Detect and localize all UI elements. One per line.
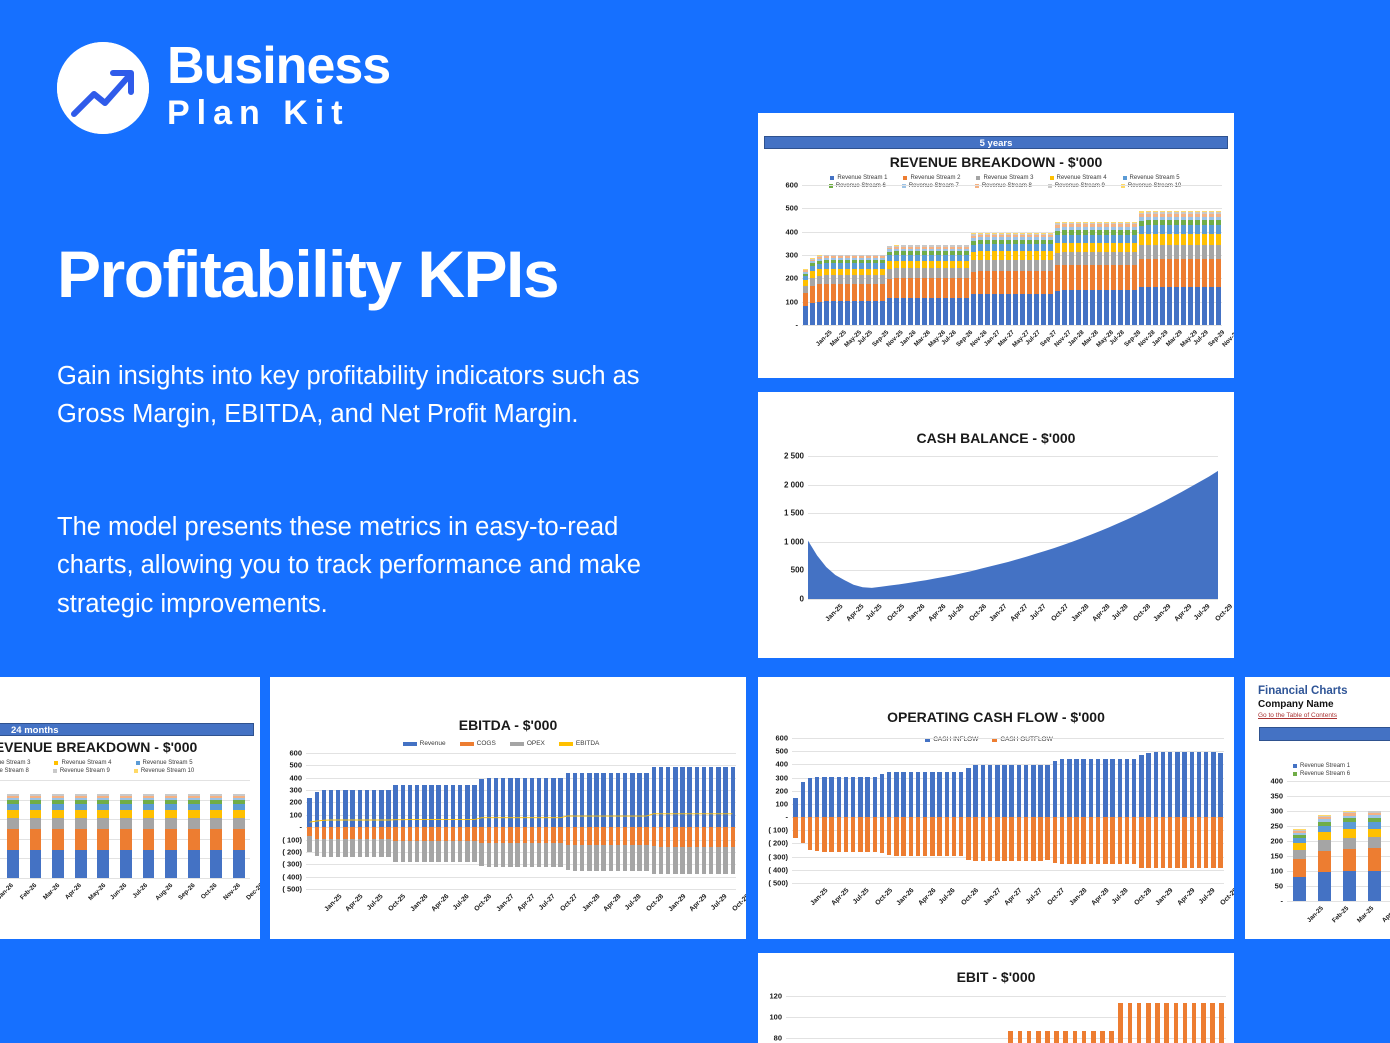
bar — [1210, 1003, 1215, 1043]
bar-segment — [1202, 225, 1206, 234]
bar-column — [850, 738, 857, 883]
bar-segment — [1111, 265, 1115, 290]
plot-area-ebitda: 600500400300200100-( 100)( 200)( 300)( 4… — [306, 753, 736, 889]
bar-negative — [1168, 817, 1172, 868]
bar-column — [900, 738, 907, 883]
bar-positive — [1204, 752, 1208, 817]
legend-item: Revenue Stream 1 — [1293, 763, 1350, 769]
bar-segment — [30, 818, 42, 829]
bar-segment — [7, 810, 19, 818]
card-revenue-breakdown-24m: 24 months REVENUE BREAKDOWN - $'000 Reve… — [0, 677, 260, 939]
bar-negative — [1190, 817, 1194, 868]
bar-column — [972, 738, 979, 883]
bar-segment — [1006, 294, 1010, 325]
bar-negative — [815, 817, 819, 851]
bar-negative — [923, 817, 927, 855]
legend-label: Revenue Stream 1 — [1300, 763, 1350, 769]
bar-negative — [1002, 817, 1006, 861]
bar-positive — [1190, 752, 1194, 817]
x-axis-label: Apr-29 — [689, 893, 709, 913]
bar-segment — [859, 275, 863, 284]
bar-negative — [1218, 817, 1222, 868]
bar-segment — [1209, 225, 1213, 234]
bar-segment — [1083, 243, 1087, 253]
x-axis-label: Apr-28 — [603, 893, 623, 913]
bar-negative — [937, 817, 941, 855]
bar-segment — [1076, 252, 1080, 265]
bar-segment — [210, 829, 222, 850]
bar-segment — [1146, 287, 1150, 325]
bar-segment — [1209, 259, 1213, 287]
bar-segment — [887, 269, 891, 279]
bar-segment — [188, 829, 200, 850]
bar-column — [1145, 185, 1152, 325]
bar-column — [786, 986, 795, 1043]
gridline — [808, 599, 1218, 600]
bar-segment — [936, 298, 940, 325]
bar-column — [1145, 738, 1152, 883]
bar-column — [907, 185, 914, 325]
bar-column — [1138, 738, 1145, 883]
bar-segment — [999, 294, 1003, 325]
bar-column — [865, 185, 872, 325]
bar-segment — [97, 850, 109, 878]
bar-segment — [1097, 252, 1101, 265]
y-axis-label: - — [758, 813, 788, 822]
bar-column — [998, 185, 1005, 325]
bar-column — [1159, 738, 1166, 883]
y-axis-label: ( 300) — [270, 860, 302, 869]
x-axis-label: Apr-25 — [831, 887, 851, 907]
x-axis-label: Jan-26 — [409, 893, 429, 913]
bar-segment — [964, 278, 968, 298]
chart-title-revenue-breakdown-24m: REVENUE BREAKDOWN - $'000 — [0, 739, 260, 755]
legend-label: COGS — [477, 740, 496, 747]
bar-segment — [859, 301, 863, 325]
brand-name-secondary: Plan Kit — [167, 92, 390, 135]
bar-positive — [1182, 752, 1186, 817]
bar-negative — [851, 817, 855, 852]
bar-positive — [959, 772, 963, 817]
bar-segment — [120, 818, 132, 829]
y-axis-label: ( 300) — [758, 852, 788, 861]
x-axis-label: Jul-25 — [366, 893, 385, 912]
bar-column — [1052, 986, 1061, 1043]
bar-segment — [971, 252, 975, 261]
bar-segment — [922, 261, 926, 269]
bar-column — [830, 185, 837, 325]
bar-column — [1068, 185, 1075, 325]
bar-positive — [1118, 759, 1122, 817]
hero-paragraph-1: Gain insights into key profitability ind… — [57, 357, 677, 434]
bar-column — [878, 986, 887, 1043]
bar-segment — [936, 278, 940, 298]
y-axis-label: ( 400) — [270, 872, 302, 881]
bar-segment — [964, 261, 968, 269]
bar-positive — [1146, 753, 1150, 818]
bar-segment — [1020, 271, 1024, 294]
y-axis-label: 100 — [1245, 867, 1283, 876]
bar-positive — [851, 777, 855, 817]
bar-segment — [971, 260, 975, 271]
bar-segment — [978, 260, 982, 272]
x-axis-label: Jan-26 — [895, 887, 915, 907]
bar-segment — [97, 810, 109, 818]
bar-column — [893, 185, 900, 325]
bar-segment — [1062, 243, 1066, 253]
bar-negative — [793, 817, 797, 838]
bar-segment — [817, 302, 821, 325]
x-axis-label: Jan-27 — [495, 893, 515, 913]
bar-segment — [1167, 225, 1171, 234]
brand-logo: Business Plan Kit — [57, 41, 390, 134]
legend-label: Revenue Stream 5 — [1130, 175, 1180, 181]
bar-segment — [992, 244, 996, 251]
bar-segment — [165, 829, 177, 850]
growth-chart-arrow-icon — [57, 42, 149, 134]
bar-column — [1203, 738, 1210, 883]
bar-positive — [916, 772, 920, 817]
bar-segment — [1160, 245, 1164, 259]
y-axis-label: - — [270, 823, 302, 832]
bar-segment — [852, 269, 856, 276]
bar-column — [1190, 986, 1199, 1043]
bar-segment — [1160, 259, 1164, 287]
bar-column — [160, 780, 183, 878]
card-operating-cash-flow: OPERATING CASH FLOW - $'000 CASH INFLOWC… — [758, 677, 1234, 939]
bar-negative — [894, 817, 898, 855]
bar-column — [1138, 185, 1145, 325]
bar-column — [887, 986, 896, 1043]
bar — [1146, 1003, 1151, 1043]
bar-segment — [845, 275, 849, 284]
bar-positive — [1161, 752, 1165, 817]
panel-tab-bar[interactable] — [1259, 727, 1390, 741]
legend-label: Revenue Stream 9 — [60, 768, 110, 774]
bar-column — [182, 780, 205, 878]
legend-label: Revenue Stream 4 — [1057, 175, 1107, 181]
bar-column — [1033, 185, 1040, 325]
bar-segment — [1076, 243, 1080, 253]
bar-negative — [1197, 817, 1201, 868]
bar-column — [1102, 738, 1109, 883]
bar-column — [851, 185, 858, 325]
bar-segment — [188, 810, 200, 818]
bar-series — [0, 780, 250, 878]
bar-segment — [985, 294, 989, 325]
bar-segment — [1318, 840, 1332, 851]
bar-segment — [1146, 234, 1150, 245]
bar-positive — [1031, 765, 1035, 817]
bar — [1054, 1031, 1059, 1043]
bar-segment — [1041, 244, 1045, 251]
bar-segment — [97, 829, 109, 850]
y-axis-label: - — [1245, 897, 1283, 906]
bar-segment — [1069, 243, 1073, 253]
bar-column — [1075, 185, 1082, 325]
bar-negative — [1024, 817, 1028, 861]
x-axis-label: Oct-28 — [645, 893, 665, 913]
bar-negative — [952, 817, 956, 855]
x-axis-label: Jul-29 — [710, 893, 729, 912]
bar-positive — [930, 772, 934, 817]
y-axis-label: 2 500 — [764, 452, 804, 461]
plot-area-ebit: 12010080 — [786, 986, 1226, 1043]
bar-segment — [950, 261, 954, 269]
x-axis-label: Jan-28 — [1071, 603, 1091, 623]
legend-label: Revenue Stream 8 — [0, 768, 29, 774]
bar-column — [979, 738, 986, 883]
bar-positive — [1154, 752, 1158, 817]
legend-item: Revenue Stream 2 — [903, 175, 960, 181]
card-cash-balance: CASH BALANCE - $'000 2 5002 0001 5001 00… — [758, 392, 1234, 658]
bar-column — [92, 780, 115, 878]
bar-segment — [915, 278, 919, 298]
bar-column — [950, 738, 957, 883]
bar-segment — [1343, 871, 1357, 901]
bar-segment — [824, 269, 828, 276]
bar-segment — [1216, 225, 1220, 234]
bar-column — [1167, 738, 1174, 883]
bar-segment — [1111, 235, 1115, 243]
bar-segment — [943, 268, 947, 278]
bar-column — [1124, 185, 1131, 325]
bar-segment — [873, 301, 877, 325]
bar-segment — [894, 268, 898, 278]
bar — [1008, 1031, 1013, 1043]
x-axis-label: Apr-25 — [845, 603, 865, 623]
bar-segment — [75, 829, 87, 850]
bar-segment — [1118, 235, 1122, 243]
bar-segment — [1062, 235, 1066, 243]
table-of-contents-link[interactable]: Go to the Table of Contents — [1258, 712, 1337, 719]
legend-item: EBITDA — [559, 740, 599, 747]
legend-item: Revenue Stream 4 — [1050, 175, 1107, 181]
y-axis-label: ( 100) — [758, 826, 788, 835]
bar-column — [1087, 738, 1094, 883]
bar-segment — [845, 284, 849, 301]
bar-column — [823, 185, 830, 325]
bar-column — [1066, 738, 1073, 883]
bar-negative — [1103, 817, 1107, 864]
bar-segment — [810, 303, 814, 325]
bar-negative — [981, 817, 985, 861]
bar-column — [844, 185, 851, 325]
bar-segment — [1195, 225, 1199, 234]
x-axis-label: Oct-25 — [874, 887, 894, 907]
bar-column — [986, 738, 993, 883]
x-axis-label: Jan-26 — [907, 603, 927, 623]
bar-segment — [1027, 260, 1031, 272]
bar-segment — [1195, 259, 1199, 287]
bar-column — [1103, 185, 1110, 325]
x-axis-label: Oct-29 — [1219, 887, 1234, 907]
bar-segment — [922, 268, 926, 278]
bar-column — [1005, 185, 1012, 325]
bar-segment — [1097, 290, 1101, 325]
bar-positive — [1060, 759, 1064, 817]
bar-segment — [1188, 225, 1192, 234]
bar-segment — [1216, 234, 1220, 245]
x-axis-label: Apr-26 — [431, 893, 451, 913]
bar-column — [914, 185, 921, 325]
bar-segment — [880, 284, 884, 301]
y-axis-label: - — [758, 321, 798, 330]
bar-negative — [1067, 817, 1071, 864]
bar — [1128, 1003, 1133, 1043]
bar-segment — [901, 261, 905, 269]
card-ebit: EBIT - $'000 12010080 — [758, 953, 1234, 1043]
bar-column — [1095, 738, 1102, 883]
gridline — [802, 325, 1222, 326]
bar-segment — [1368, 822, 1382, 829]
bar-segment — [52, 818, 64, 829]
bar-negative — [1154, 817, 1158, 868]
bar-segment — [824, 301, 828, 325]
bar-column — [1089, 986, 1098, 1043]
bar-series — [786, 986, 1226, 1043]
hero-paragraph-2: The model presents these metrics in easy… — [57, 508, 677, 623]
bar-segment — [1209, 234, 1213, 245]
x-axis-label: Jan-29 — [1153, 603, 1173, 623]
bar-segment — [1146, 259, 1150, 287]
bar-column — [928, 185, 935, 325]
bar-segment — [845, 301, 849, 325]
bar-column — [799, 738, 806, 883]
bar-column — [942, 986, 951, 1043]
bar-segment — [1013, 260, 1017, 272]
bar-segment — [1111, 290, 1115, 325]
bar-segment — [873, 284, 877, 301]
bar — [1201, 1003, 1206, 1043]
bar-segment — [852, 284, 856, 301]
bar-segment — [1125, 290, 1129, 325]
bar-segment — [1041, 251, 1045, 260]
bar-segment — [1083, 265, 1087, 290]
bar — [1109, 1031, 1114, 1043]
bar-segment — [901, 278, 905, 298]
bar-segment — [1048, 251, 1052, 260]
x-axis-label: Apr-29 — [1176, 887, 1196, 907]
bar-column — [1008, 738, 1015, 883]
tab-5-years[interactable]: 5 years — [764, 136, 1228, 149]
bar-segment — [1293, 877, 1307, 901]
bar-column — [1098, 986, 1107, 1043]
bar-segment — [803, 306, 807, 325]
tab-24-months[interactable]: 24 months — [0, 723, 254, 736]
bar-column — [871, 738, 878, 883]
legend-label: Revenue Stream 6 — [1300, 771, 1350, 777]
x-axis-label: Jun-26 — [109, 882, 128, 901]
bar-segment — [831, 284, 835, 301]
bar-column — [1116, 738, 1123, 883]
y-axis-label: 400 — [758, 760, 788, 769]
legend-item: OPEX — [510, 740, 545, 747]
bar-column — [949, 185, 956, 325]
bar-segment — [1195, 245, 1199, 259]
bar-segment — [1188, 245, 1192, 259]
bar-column — [988, 986, 997, 1043]
bar-positive — [1067, 759, 1071, 817]
bar-negative — [945, 817, 949, 855]
bar-positive — [937, 772, 941, 817]
bar-positive — [829, 777, 833, 817]
bar-segment — [866, 269, 870, 276]
bar-column — [958, 738, 965, 883]
bar-negative — [1060, 817, 1064, 864]
bar-segment — [1318, 832, 1332, 840]
bar-segment — [817, 284, 821, 301]
legend-item: Revenue Stream 1 — [830, 175, 887, 181]
chart-title-revenue-breakdown: REVENUE BREAKDOWN - $'000 — [758, 154, 1234, 170]
bar-column — [1162, 986, 1171, 1043]
x-axis-label: Nov-26 — [222, 882, 242, 902]
cash-balance-area — [808, 456, 1218, 599]
bar-column — [809, 185, 816, 325]
bar-positive — [808, 778, 812, 817]
bar-negative — [901, 817, 905, 855]
bar-negative — [909, 817, 913, 855]
bar-column — [963, 185, 970, 325]
bar-segment — [964, 298, 968, 325]
bar-segment — [1013, 244, 1017, 251]
bar-segment — [1104, 243, 1108, 253]
y-axis-label: 80 — [758, 1033, 782, 1042]
bar-series — [1287, 781, 1390, 901]
chart-title-ebitda: EBITDA - $'000 — [270, 717, 746, 733]
bar-negative — [1074, 817, 1078, 864]
bar-column — [835, 738, 842, 883]
bar-segment — [1006, 271, 1010, 294]
bar-segment — [188, 818, 200, 829]
bar-segment — [880, 301, 884, 325]
bar-negative — [1146, 817, 1150, 868]
bar-column — [921, 185, 928, 325]
bar-segment — [1118, 265, 1122, 290]
bar-segment — [1181, 245, 1185, 259]
bar-column — [965, 738, 972, 883]
bar-segment — [1125, 235, 1129, 243]
ebitda-line — [306, 753, 736, 889]
bar-column — [1173, 185, 1180, 325]
bar-column — [924, 986, 933, 1043]
legend-item: Revenue — [403, 740, 446, 747]
bar-segment — [1069, 290, 1073, 325]
bar-segment — [1139, 226, 1143, 235]
legend-swatch — [830, 176, 834, 180]
bar-segment — [1090, 265, 1094, 290]
bar-segment — [929, 268, 933, 278]
bar-segment — [1125, 265, 1129, 290]
bar-segment — [1181, 234, 1185, 245]
bar-segment — [188, 850, 200, 878]
y-axis-label: 100 — [758, 799, 788, 808]
bar-column — [1012, 185, 1019, 325]
bar-negative — [1096, 817, 1100, 864]
bar-segment — [1076, 235, 1080, 243]
bar-positive — [1125, 759, 1129, 817]
bar-column — [1107, 986, 1116, 1043]
legend-item: Revenue Stream 3 — [0, 760, 30, 766]
bar-column — [879, 185, 886, 325]
bar-segment — [143, 850, 155, 878]
bar-column — [115, 780, 138, 878]
bar-positive — [1089, 759, 1093, 817]
x-axis-label: Oct-28 — [1133, 887, 1153, 907]
bar-segment — [1118, 252, 1122, 265]
bar-positive — [887, 772, 891, 817]
bar-segment — [1048, 260, 1052, 272]
